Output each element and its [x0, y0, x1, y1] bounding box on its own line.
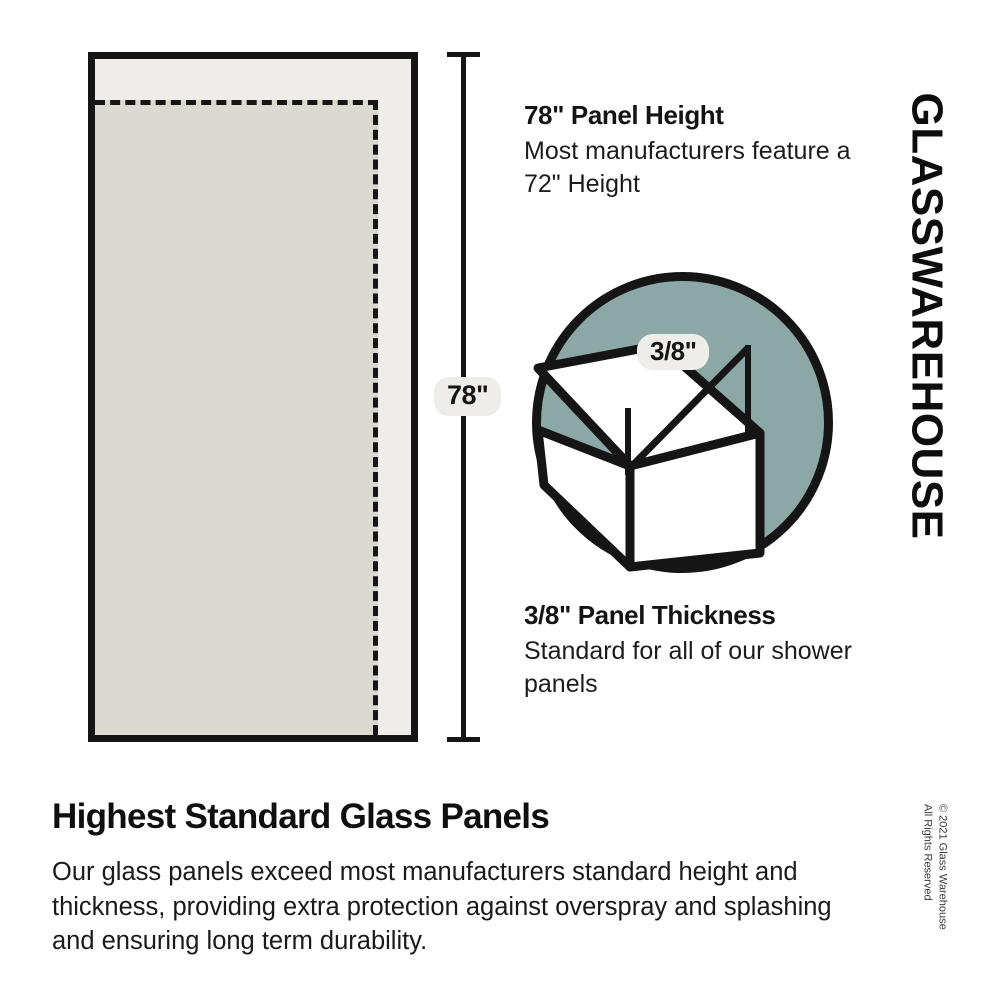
panel-thickness-diagram: [530, 270, 835, 575]
footer-heading: Highest Standard Glass Panels: [52, 798, 549, 837]
copyright-line-1: © 2021 Glass Warehouse: [935, 804, 950, 930]
brand-wordmark-text: GLASSWAREHOUSE: [905, 92, 949, 539]
callout-height-title: 78" Panel Height: [524, 100, 854, 132]
thickness-measurement-label: 3/8": [637, 334, 709, 370]
brand-wordmark: GLASSWAREHOUSE: [889, 44, 965, 604]
footer-paragraph: Our glass panels exceed most manufacture…: [52, 855, 872, 959]
callout-thickness-title: 3/8" Panel Thickness: [524, 600, 854, 632]
callout-height-body: Most manufacturers feature a 72" Height: [524, 135, 854, 202]
height-dimension-label: 78": [434, 377, 501, 416]
callout-thickness-body: Standard for all of our shower panels: [524, 635, 854, 702]
copyright-notice: © 2021 Glass Warehouse All Rights Reserv…: [905, 790, 965, 960]
panel-dashed-outline-72in: [95, 100, 378, 735]
dimension-cap-bottom: [447, 737, 480, 742]
copyright-line-2: All Rights Reserved: [920, 804, 935, 930]
callout-panel-thickness: 3/8" Panel Thickness Standard for all of…: [524, 600, 854, 702]
glass-panel-diagram: [88, 52, 418, 742]
callout-panel-height: 78" Panel Height Most manufacturers feat…: [524, 100, 854, 202]
